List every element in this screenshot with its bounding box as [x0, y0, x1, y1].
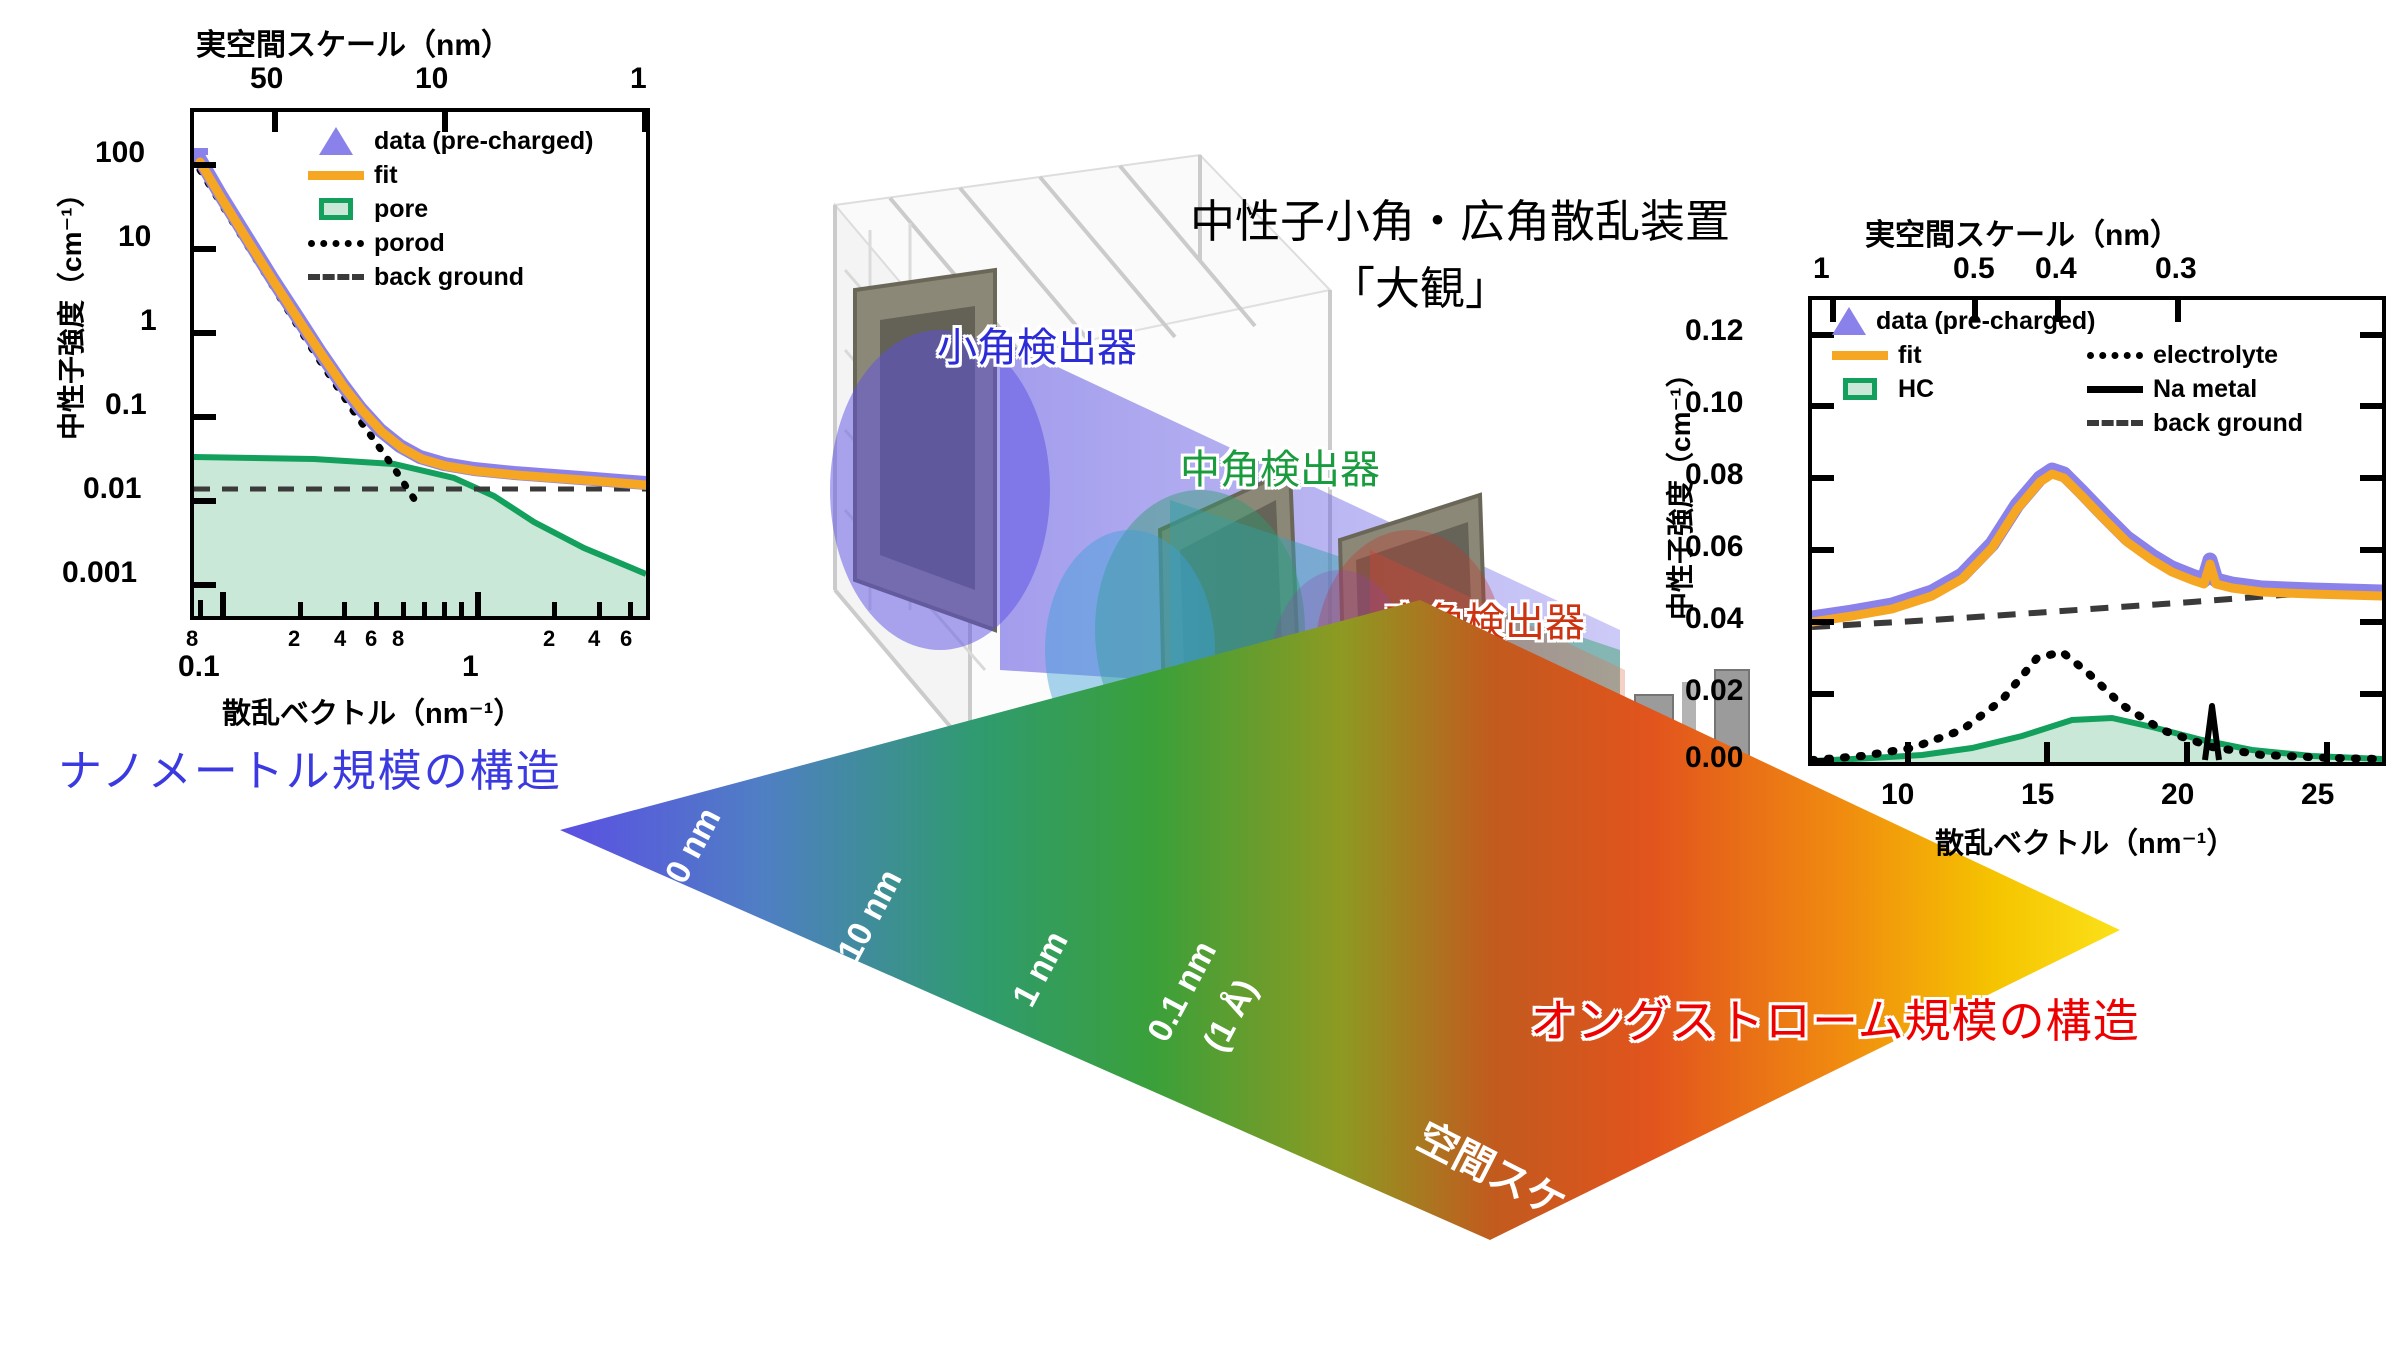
legend-label-fit: fit: [374, 161, 398, 190]
left-chart-ytick-0p1: [194, 414, 216, 420]
right-chart-ylabel-0p00: 0.00: [1685, 741, 1743, 775]
right-chart-ytick-mirror: [2360, 547, 2382, 553]
legend-label-background: back ground: [2153, 409, 2303, 438]
line-swatch-icon: [308, 163, 364, 187]
solid-line-icon: [2087, 377, 2143, 401]
legend-item-data: data (pre-charged): [308, 124, 593, 158]
left-chart-top-axis-title: 実空間スケール（nm）: [196, 20, 511, 64]
left-chart-ylabel-0p001: 0.001: [62, 556, 137, 590]
left-chart-xtick: [298, 602, 303, 616]
right-chart-ytick-0p04: [1812, 619, 1834, 625]
middle-angle-detector-label: 中角検出器: [1180, 437, 1380, 495]
right-chart-top-axis-title: 実空間スケール（nm）: [1865, 210, 2180, 254]
legend-item-hc: HC: [1832, 372, 2087, 406]
legend-label-pore: pore: [374, 195, 428, 224]
left-chart-xtick: [552, 602, 557, 616]
small-angle-detector-label: 小角検出器: [937, 315, 1137, 373]
left-chart-x-axis-title: 散乱ベクトル（nm⁻¹）: [222, 690, 522, 732]
square-swatch-icon: [308, 197, 364, 221]
left-chart-xtick: [442, 602, 447, 616]
right-chart-xtick: [2324, 742, 2330, 762]
legend-label-fit: fit: [1898, 341, 1922, 370]
left-chart-xtick: [475, 592, 481, 616]
left-chart-xtick: [422, 602, 427, 616]
figure-title-line2: 「大観」: [1330, 252, 1510, 317]
legend-label-background: back ground: [374, 263, 524, 292]
dotted-line-icon: [2087, 343, 2143, 367]
left-chart-xtick: [401, 602, 406, 616]
left-chart-ytick-0p001: [194, 582, 216, 588]
figure-title-line1: 中性子小角・広角散乱装置: [1190, 185, 1730, 250]
legend-label-electrolyte: electrolyte: [2153, 341, 2278, 370]
right-chart-top-tick-0p4: 0.4: [2035, 252, 2077, 286]
right-chart-xlabel-10: 10: [1881, 778, 1914, 812]
nanometer-structure-caption: ナノメートル規模の構造: [58, 735, 562, 799]
left-chart-xminor-8a: 8: [186, 626, 198, 652]
left-chart-toptick-50: [272, 112, 278, 132]
legend-item-fit: fit: [1832, 338, 2087, 372]
right-chart-ytick-0p12: [1812, 332, 1834, 338]
left-chart-xtick: [459, 602, 464, 616]
right-chart-top-tick-0p5: 0.5: [1953, 252, 1995, 286]
left-chart-ytick-10: [194, 246, 216, 252]
right-chart-ytick-mirror: [2360, 619, 2382, 625]
dashed-line-icon: [308, 265, 364, 289]
angstrom-structure-caption: オングストローム規模の構造: [1530, 985, 2140, 1051]
left-chart-xdecade-1: 1: [462, 650, 479, 684]
left-chart-ylabel-100: 100: [95, 136, 145, 170]
left-chart-legend: data (pre-charged) fit pore porod back g…: [308, 124, 593, 294]
legend-label-porod: porod: [374, 229, 445, 258]
left-chart-xtick: [342, 602, 347, 616]
left-chart-top-tick-1: 1: [630, 62, 647, 96]
right-chart-ytick-0p02: [1812, 691, 1834, 697]
right-chart-top-tick-0p3: 0.3: [2155, 252, 2197, 286]
right-chart-ylabel-0p02: 0.02: [1685, 674, 1743, 708]
right-chart-ytick-0p08: [1812, 475, 1834, 481]
triangle-marker-icon: [308, 129, 364, 153]
left-chart-xtick: [374, 602, 379, 616]
legend-label-hc: HC: [1898, 375, 1934, 404]
left-chart-top-tick-10: 10: [415, 62, 448, 96]
left-chart-ylabel-1: 1: [140, 304, 157, 338]
right-chart-ytick-mirror: [2360, 691, 2382, 697]
right-chart-xlabel-20: 20: [2161, 778, 2194, 812]
left-chart-xdecade-0p1: 0.1: [178, 650, 220, 684]
right-chart-legend: data (pre-charged) fit HC electrolyte: [1832, 304, 2387, 440]
legend-item-pore: pore: [308, 192, 593, 226]
left-chart-xtick: [220, 592, 226, 616]
left-chart-y-axis-title: 中性子強度（cm⁻¹）: [50, 180, 90, 440]
right-chart: 実空間スケール（nm） 1 0.5 0.4 0.3: [1660, 200, 2400, 980]
right-chart-ylabel-0p12: 0.12: [1685, 314, 1743, 348]
right-chart-xtick: [1905, 742, 1911, 762]
legend-item-background: back ground: [2087, 406, 2387, 440]
right-chart-xtick: [2044, 742, 2050, 762]
left-chart-ytick-0p01: [194, 498, 216, 504]
left-chart-xtick: [198, 600, 203, 616]
left-chart-ylabel-0p01: 0.01: [83, 472, 141, 506]
dashed-line-icon: [2087, 411, 2143, 435]
right-chart-top-tick-1: 1: [1813, 252, 1830, 286]
right-chart-x-axis-title: 散乱ベクトル（nm⁻¹）: [1935, 820, 2235, 862]
legend-item-electrolyte: electrolyte: [2087, 338, 2387, 372]
left-chart-ylabel-10: 10: [118, 220, 151, 254]
legend-item-porod: porod: [308, 226, 593, 260]
right-chart-ytick-0p06: [1812, 547, 1834, 553]
left-chart-ytick-100: [194, 162, 216, 168]
right-chart-y-axis-title: 中性子強度（cm⁻¹）: [1659, 360, 1699, 620]
line-swatch-icon: [1832, 343, 1888, 367]
right-chart-y-axis-title-text: 中性子強度（cm⁻¹）: [1665, 359, 1696, 620]
right-chart-xtick: [2184, 742, 2190, 762]
triangle-marker-icon: [1832, 309, 1866, 333]
legend-label-data: data (pre-charged): [374, 127, 593, 156]
right-chart-ytick-mirror: [2360, 475, 2382, 481]
left-chart-top-tick-50: 50: [250, 62, 283, 96]
left-chart-xminor-2b: 2: [543, 626, 555, 652]
left-chart-ytick-1: [194, 330, 216, 336]
square-swatch-icon: [1832, 377, 1888, 401]
right-chart-ytick-0p10: [1812, 403, 1834, 409]
left-chart-ylabel-0p1: 0.1: [105, 388, 147, 422]
right-chart-xlabel-15: 15: [2021, 778, 2054, 812]
dotted-line-icon: [308, 231, 364, 255]
left-chart-xminor-6a: 6: [365, 626, 377, 652]
legend-item-background: back ground: [308, 260, 593, 294]
legend-label-data: data (pre-charged): [1876, 307, 2095, 336]
legend-item-na-metal: Na metal: [2087, 372, 2387, 406]
left-chart-y-axis-title-text: 中性子強度（cm⁻¹）: [56, 179, 87, 440]
right-chart-ytick-0p00: [1812, 758, 1834, 764]
left-chart-xminor-4a: 4: [334, 626, 346, 652]
legend-item-data: data (pre-charged): [1832, 304, 2087, 338]
legend-label-na-metal: Na metal: [2153, 375, 2257, 404]
left-chart-xminor-2a: 2: [288, 626, 300, 652]
left-chart-xminor-8b: 8: [392, 626, 404, 652]
legend-item-fit: fit: [308, 158, 593, 192]
right-chart-xlabel-25: 25: [2301, 778, 2334, 812]
